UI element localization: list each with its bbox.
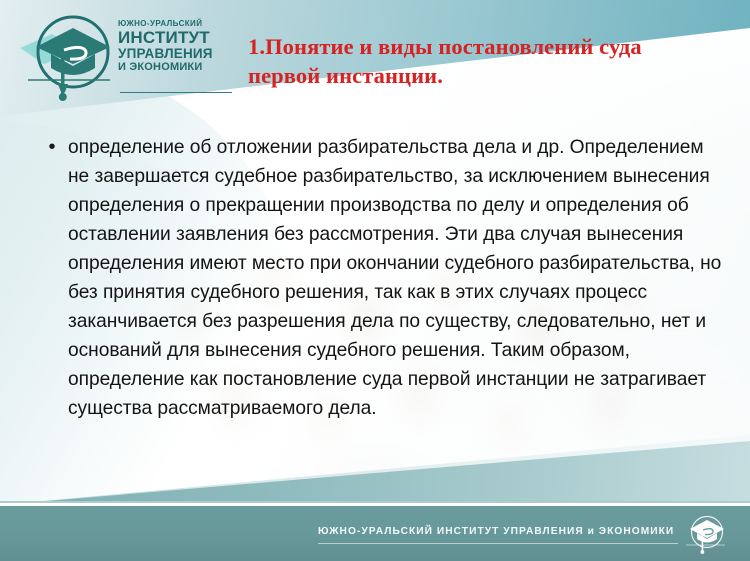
- slide-title: 1.Понятие и виды постановлений суда перв…: [248, 32, 718, 91]
- slide-body: • определение об отложении разбирательст…: [36, 133, 726, 423]
- institution-logo-text: ЮЖНО-УРАЛЬСКИЙ ИНСТИТУТ УПРАВЛЕНИЯ И ЭКО…: [118, 20, 236, 73]
- footer-underline: [318, 543, 678, 544]
- footer-graduation-cap-in-circle-icon: [682, 514, 726, 556]
- logo-line-1: ЮЖНО-УРАЛЬСКИЙ: [118, 20, 236, 28]
- slide-footer: ЮЖНО-УРАЛЬСКИЙ ИНСТИТУТ УПРАВЛЕНИЯ и ЭКО…: [0, 506, 750, 561]
- presentation-slide: ЮЖНО-УРАЛЬСКИЙ ИНСТИТУТ УПРАВЛЕНИЯ И ЭКО…: [0, 0, 750, 561]
- body-paragraph: определение об отложении разбирательства…: [68, 133, 726, 423]
- logo-line-4: И ЭКОНОМИКИ: [118, 62, 236, 73]
- logo-line-3: УПРАВЛЕНИЯ: [118, 47, 236, 61]
- institution-logo: ЮЖНО-УРАЛЬСКИЙ ИНСТИТУТ УПРАВЛЕНИЯ И ЭКО…: [8, 4, 233, 104]
- footer-institution-name: ЮЖНО-УРАЛЬСКИЙ ИНСТИТУТ УПРАВЛЕНИЯ и ЭКО…: [318, 526, 674, 537]
- graduation-cap-in-circle-icon: [18, 10, 114, 102]
- bullet-glyph: •: [36, 133, 68, 423]
- logo-underline: [120, 92, 232, 93]
- logo-line-2: ИНСТИТУТ: [118, 29, 236, 46]
